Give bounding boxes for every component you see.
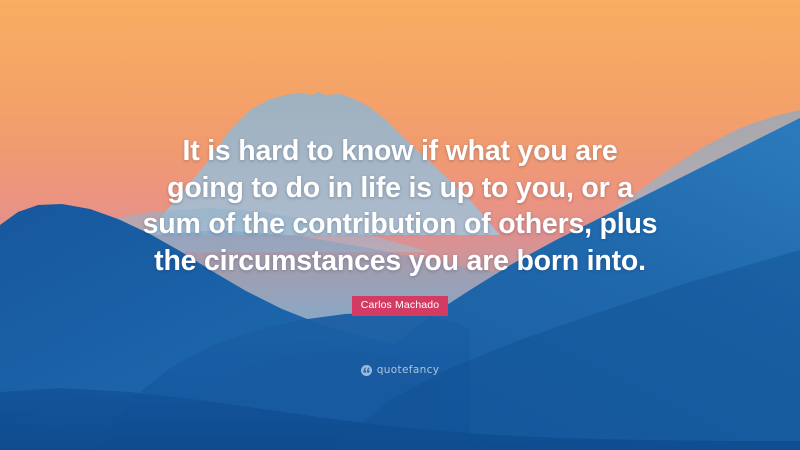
quote-text: It is hard to know if what you are going… xyxy=(140,133,660,279)
watermark[interactable]: quotefancy xyxy=(0,364,800,376)
watermark-label: quotefancy xyxy=(377,364,440,376)
quote-card: It is hard to know if what you are going… xyxy=(0,0,800,450)
quote-mark-icon xyxy=(361,365,372,376)
quote-content: It is hard to know if what you are going… xyxy=(0,0,800,450)
author-badge[interactable]: Carlos Machado xyxy=(352,296,449,316)
